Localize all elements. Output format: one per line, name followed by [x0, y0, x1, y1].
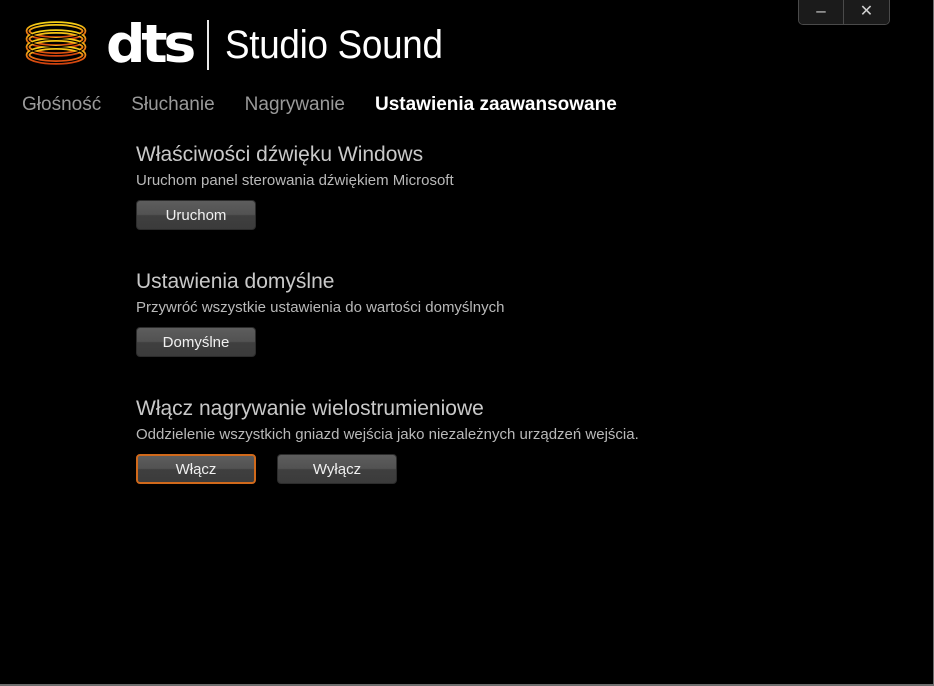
close-icon: ✕ — [860, 4, 873, 20]
section-button-row: Uruchom — [136, 200, 896, 230]
section-description: Oddzielenie wszystkich gniazd wejścia ja… — [136, 425, 896, 445]
launch-button[interactable]: Uruchom — [136, 200, 256, 230]
section-title: Włącz nagrywanie wielostrumieniowe — [136, 396, 896, 422]
enable-button[interactable]: Włącz — [136, 454, 256, 484]
product-name: Studio Sound — [225, 21, 443, 69]
section-description: Przywróć wszystkie ustawienia do wartośc… — [136, 298, 896, 318]
minimize-button[interactable]: – — [799, 0, 844, 24]
minimize-icon: – — [816, 2, 825, 19]
dts-studio-sound-window: – ✕ — [0, 0, 934, 686]
tab-nagrywanie[interactable]: Nagrywanie — [245, 94, 345, 116]
section-windows-sound-properties: Właściwości dźwięku Windows Uruchom pane… — [136, 142, 896, 230]
window-controls: – ✕ — [798, 0, 890, 25]
close-button[interactable]: ✕ — [844, 0, 889, 24]
section-button-row: Włącz Wyłącz — [136, 454, 896, 484]
section-multistream-recording: Włącz nagrywanie wielostrumieniowe Oddzi… — [136, 396, 896, 484]
section-title: Ustawienia domyślne — [136, 269, 896, 295]
tab-glosnosc[interactable]: Głośność — [22, 94, 101, 116]
section-description: Uruchom panel sterowania dźwiękiem Micro… — [136, 171, 896, 191]
settings-content: Właściwości dźwięku Windows Uruchom pane… — [136, 142, 896, 484]
section-title: Właściwości dźwięku Windows — [136, 142, 896, 168]
defaults-button[interactable]: Domyślne — [136, 327, 256, 357]
brand-divider — [207, 20, 209, 70]
brand-header: dts Studio Sound — [18, 18, 461, 72]
dts-wordmark: dts — [106, 18, 192, 72]
section-button-row: Domyślne — [136, 327, 896, 357]
dts-coil-logo-icon — [18, 20, 98, 70]
tab-sluchanie[interactable]: Słuchanie — [131, 94, 214, 116]
tab-bar: Głośność Słuchanie Nagrywanie Ustawienia… — [22, 94, 617, 116]
tab-ustawienia-zaawansowane[interactable]: Ustawienia zaawansowane — [375, 94, 617, 116]
section-default-settings: Ustawienia domyślne Przywróć wszystkie u… — [136, 269, 896, 357]
disable-button[interactable]: Wyłącz — [277, 454, 397, 484]
